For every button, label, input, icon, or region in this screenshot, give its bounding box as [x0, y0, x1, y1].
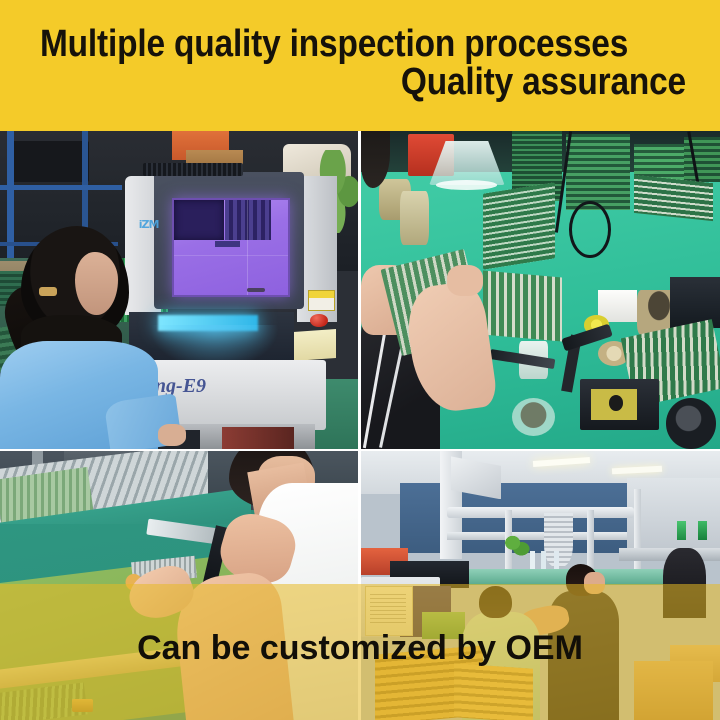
equipment-knob[interactable]: [666, 398, 716, 449]
quality-inspection-banner: Multiple quality inspection processes Qu…: [0, 0, 720, 720]
signal-tower-b: [698, 521, 707, 540]
screen-status-bar: [247, 288, 265, 293]
rack-shelf-upper: [0, 185, 122, 190]
bench-lamp-ring: [436, 180, 497, 190]
worker-a-head: [479, 586, 511, 618]
worker-b-face: [584, 572, 606, 594]
screen-label-strip: [215, 241, 240, 248]
operator-hand: [158, 424, 187, 446]
photo-aoi-inspection-machine: iZM King-E9: [0, 131, 358, 449]
headline-secondary: Quality assurance: [401, 60, 686, 104]
warning-label: [308, 290, 335, 311]
pcb-stack-center: [483, 183, 555, 271]
overhead-pipe-upper: [447, 507, 634, 518]
machine-vent-grille: [143, 163, 243, 176]
photo-manual-component-placement: [0, 451, 358, 720]
soldering-stand-hole: [609, 395, 623, 411]
photo-bl-scene: [0, 451, 358, 720]
photo-tl-scene: iZM King-E9: [0, 131, 358, 449]
emergency-stop-button[interactable]: [310, 314, 328, 327]
pcb-stack-right: [634, 175, 713, 221]
panel-clamp: [72, 699, 93, 712]
worker-fingers: [447, 265, 483, 297]
overhead-pipe-lower: [447, 532, 627, 540]
red-cable-bundle: [222, 427, 294, 449]
dark-storage-bin: [11, 141, 90, 182]
photo-br-scene: [361, 451, 720, 720]
operator-hair-tie: [39, 287, 57, 297]
black-cable-loop: [569, 201, 611, 258]
photo-tr-scene: [361, 131, 720, 449]
photo-pcb-assembly-bench: [361, 131, 720, 449]
banner-header: Multiple quality inspection processes Qu…: [0, 0, 720, 131]
signal-tower-a: [677, 521, 686, 540]
worker-background: [663, 548, 706, 618]
photo-factory-assembly-floor: [361, 451, 720, 720]
caption-oem: Can be customized by OEM: [0, 628, 720, 668]
tape-roll-left-2: [400, 191, 429, 245]
gold-plated-parts-stack-b: [454, 663, 533, 720]
screen-gridlines: [174, 200, 289, 295]
work-instruction-text-lines: [370, 594, 406, 626]
cardboard-carton-front: [634, 661, 713, 720]
inspection-monitor: [172, 198, 291, 297]
pcb-board-center: [483, 271, 562, 342]
pcb-panel-stack-b: [566, 134, 631, 210]
machine-brand-logo-icon: iZM: [134, 207, 163, 242]
component-bowl: [512, 398, 555, 436]
